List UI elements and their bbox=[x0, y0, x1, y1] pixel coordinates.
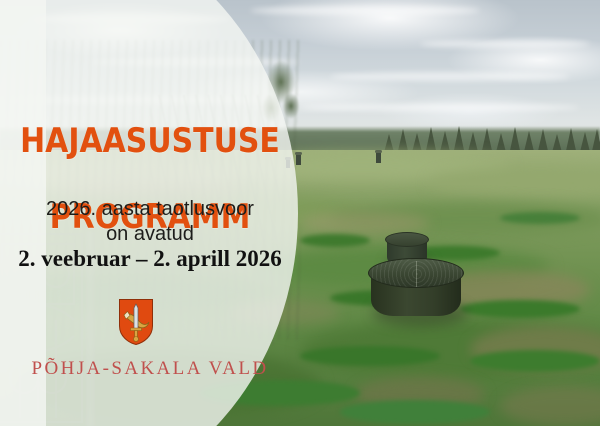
subtitle-block: 2026. aasta taotlusvoor on avatud bbox=[0, 197, 300, 247]
subtitle-line-2: on avatud bbox=[0, 222, 300, 247]
headline-line-1: HAJAASUSTUSE bbox=[18, 122, 282, 160]
poster-canvas: HAJAASUSTUSE PROGRAMM 2026. aasta taotlu… bbox=[0, 0, 600, 426]
field-post-marker bbox=[376, 152, 381, 163]
poster-content: HAJAASUSTUSE PROGRAMM 2026. aasta taotlu… bbox=[0, 0, 300, 426]
municipality-name: PÕHJA-SAKALA VALD bbox=[0, 358, 300, 380]
septic-tank-cover-large bbox=[368, 258, 464, 320]
subtitle-line-1: 2026. aasta taotlusvoor bbox=[0, 197, 300, 222]
coat-of-arms-icon bbox=[118, 298, 154, 346]
application-period-dates: 2. veebruar – 2. aprill 2026 bbox=[0, 246, 300, 272]
